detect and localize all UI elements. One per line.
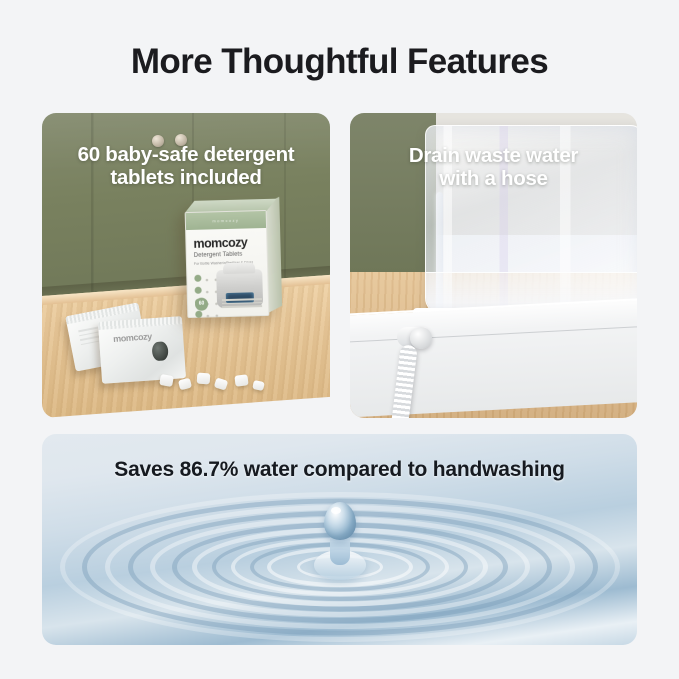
pouch-tablet-illustration (151, 341, 168, 361)
box-brand-name: momcozy (193, 235, 247, 250)
detergent-tablet (234, 374, 248, 387)
caption-line-1: Drain waste water (364, 144, 623, 167)
box-footer: 60 (195, 296, 262, 311)
box-top-band: momcozy (186, 211, 266, 230)
detergent-tablet (159, 374, 174, 387)
fineprint-line (222, 302, 262, 305)
bullet-dot-icon (195, 287, 202, 294)
page-title: More Thoughtful Features (0, 42, 679, 82)
bullet-dot-icon (195, 311, 202, 318)
bullet-dot-icon (194, 275, 201, 282)
caption-line-2: tablets included (54, 166, 318, 189)
detergent-tablet (197, 373, 211, 385)
hose-connector-ring (410, 327, 432, 349)
fineprint-line (222, 306, 262, 309)
box-subtitle: Detergent Tablets (194, 252, 243, 259)
water-droplet (324, 502, 356, 540)
pouch-brand-name: momcozy (113, 331, 152, 344)
box-front-face: momcozy momcozy Detergent Tablets For Bo… (185, 210, 270, 318)
caption-line-2: with a hose (364, 167, 623, 190)
box-quantity-badge: 60 (195, 298, 208, 311)
caption-line-1: 60 baby-safe detergent (54, 143, 318, 166)
feature-card-water-saving[interactable]: Saves 86.7% water compared to handwashin… (42, 434, 637, 645)
detergent-pouch: momcozy (98, 316, 186, 384)
detergent-tablet-box: momcozy momcozy Detergent Tablets For Bo… (185, 210, 270, 318)
feature-caption-drain: Drain waste water with a hose (350, 144, 637, 191)
feature-card-detergent-tablets[interactable]: momcozy momcozy Detergent Tablets For Bo… (42, 113, 330, 418)
kitchen-cabinet-background (350, 113, 436, 284)
feature-caption-water-saving: Saves 86.7% water compared to handwashin… (42, 458, 637, 482)
box-band-text: momcozy (186, 211, 266, 230)
fineprint-line (222, 298, 262, 301)
feature-caption-detergent: 60 baby-safe detergent tablets included (42, 143, 330, 190)
box-fineprint (222, 298, 262, 310)
feature-card-drain-hose[interactable]: Drain waste water with a hose (350, 113, 637, 418)
